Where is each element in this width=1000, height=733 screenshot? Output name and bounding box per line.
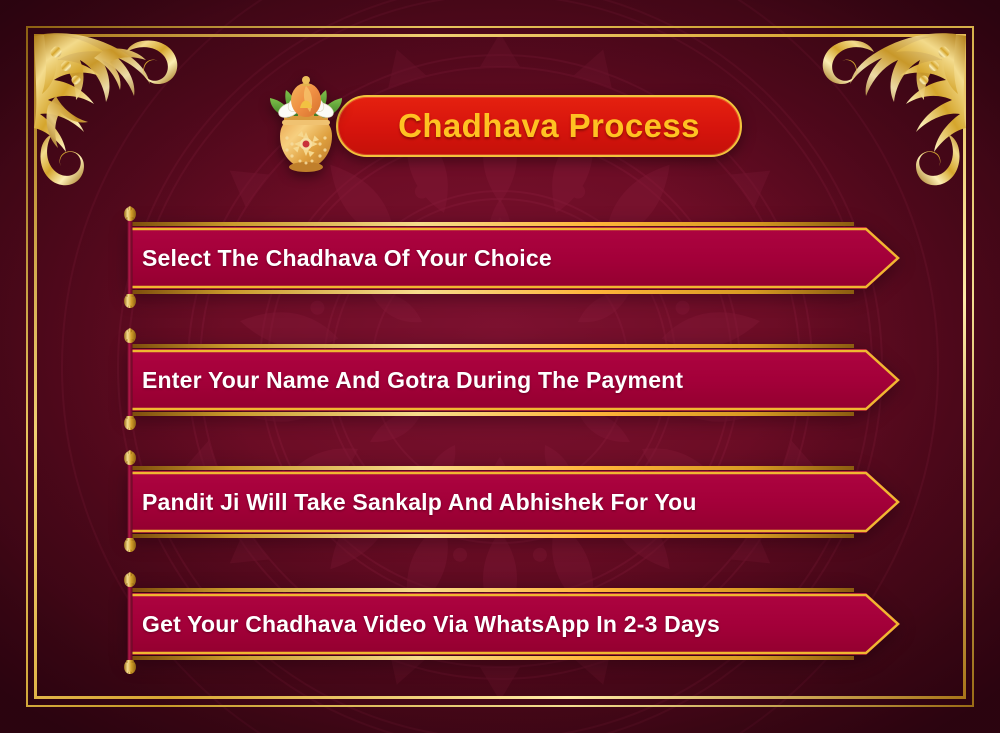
step-banner-top-edge: [128, 466, 854, 470]
step-banner-top-edge: [128, 344, 854, 348]
steps-list: Select The Chadhava Of Your Choice: [0, 200, 1000, 688]
step-banner-top-edge: [128, 222, 854, 226]
step-banner[interactable]: Select The Chadhava Of Your Choice: [128, 227, 900, 289]
step-label: Pandit Ji Will Take Sankalp And Abhishek…: [142, 471, 848, 533]
page-title-banner: Chadhava Process: [336, 95, 742, 157]
list-item[interactable]: Enter Your Name And Gotra During The Pay…: [0, 322, 1000, 444]
step-banner-bottom-edge: [128, 656, 854, 660]
step-banner[interactable]: Get Your Chadhava Video Via WhatsApp In …: [128, 593, 900, 655]
step-label: Get Your Chadhava Video Via WhatsApp In …: [142, 593, 848, 655]
step-banner[interactable]: Pandit Ji Will Take Sankalp And Abhishek…: [128, 471, 900, 533]
page-header: Chadhava Process: [0, 74, 1000, 178]
step-label: Enter Your Name And Gotra During The Pay…: [142, 349, 848, 411]
step-banner-top-edge: [128, 588, 854, 592]
step-banner-bottom-edge: [128, 534, 854, 538]
step-label: Select The Chadhava Of Your Choice: [142, 227, 848, 289]
list-item[interactable]: Select The Chadhava Of Your Choice: [0, 200, 1000, 322]
chadhava-process-poster: Chadhava Process: [0, 0, 1000, 733]
list-item[interactable]: Pandit Ji Will Take Sankalp And Abhishek…: [0, 444, 1000, 566]
step-banner-bottom-edge: [128, 290, 854, 294]
kalash-icon: [258, 74, 354, 178]
list-item[interactable]: Get Your Chadhava Video Via WhatsApp In …: [0, 566, 1000, 688]
page-title: Chadhava Process: [398, 107, 700, 145]
step-banner-bottom-edge: [128, 412, 854, 416]
step-banner[interactable]: Enter Your Name And Gotra During The Pay…: [128, 349, 900, 411]
